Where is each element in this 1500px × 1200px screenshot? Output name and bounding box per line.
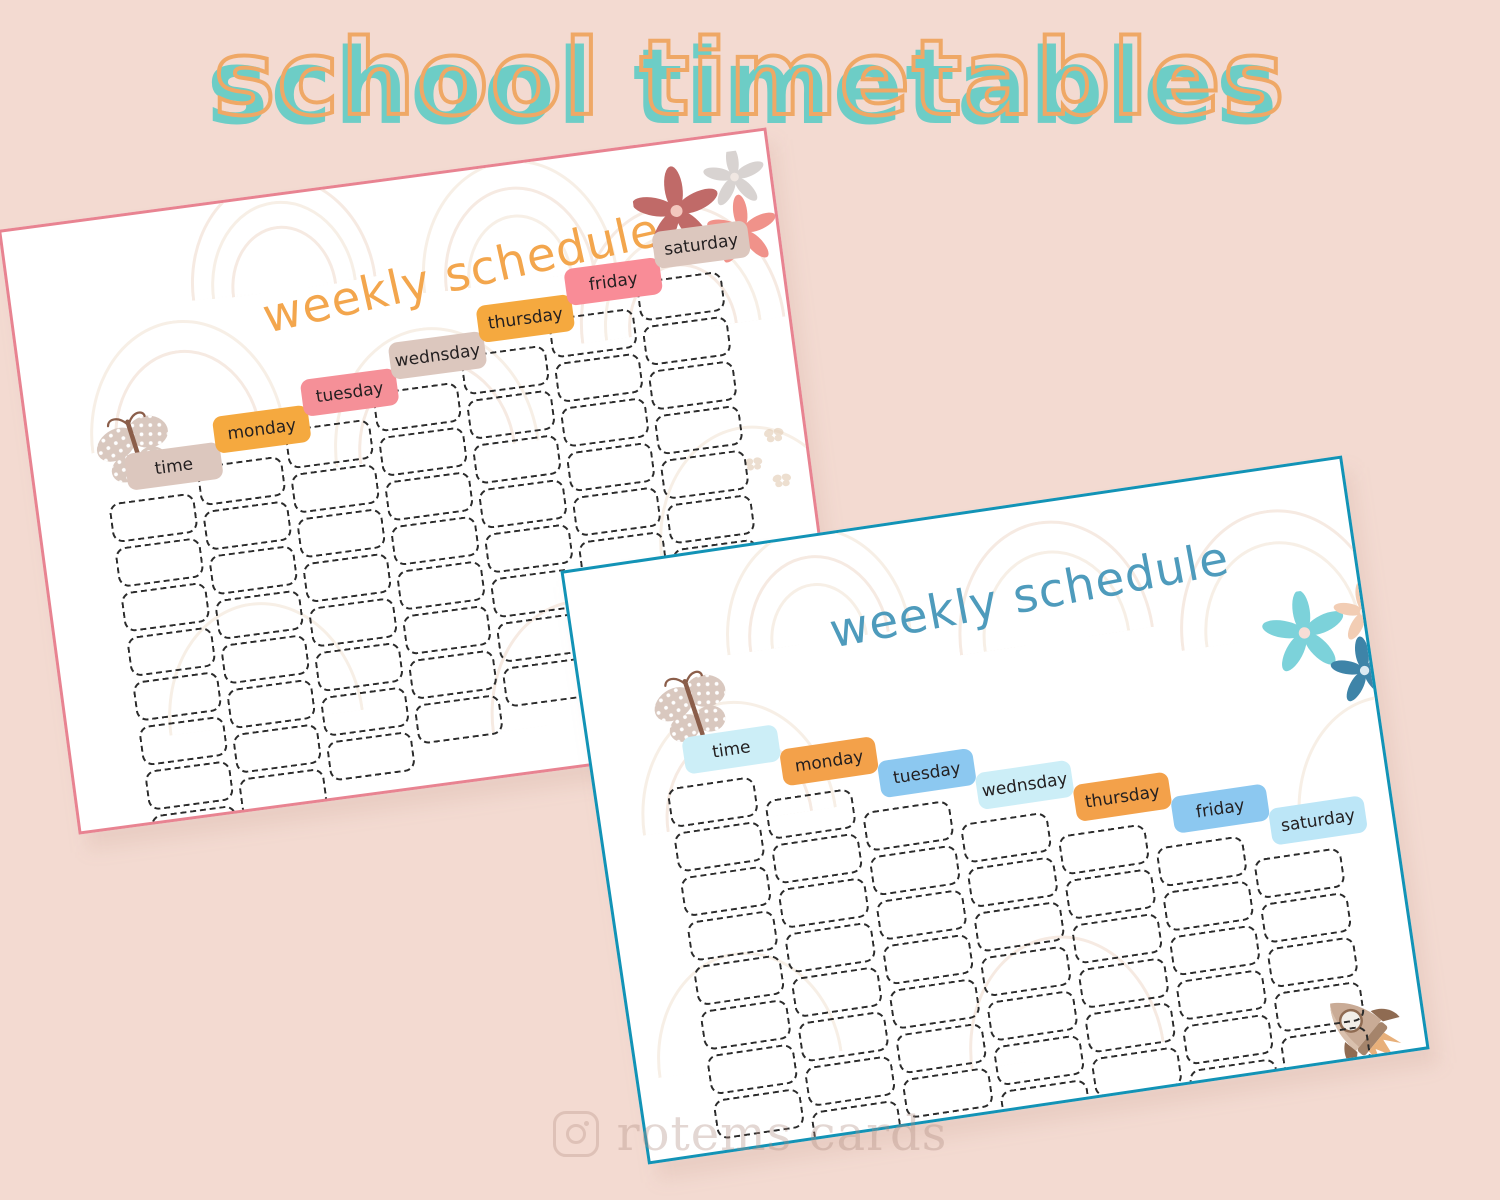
- timetable-cell[interactable]: [647, 360, 738, 411]
- timetable-cell[interactable]: [699, 999, 792, 1051]
- timetable-cell[interactable]: [138, 715, 229, 766]
- timetable-cell[interactable]: [208, 545, 299, 596]
- timetable-cell[interactable]: [571, 486, 662, 537]
- timetable-cell[interactable]: [1273, 981, 1366, 1033]
- timetable-cell[interactable]: [1071, 912, 1164, 964]
- timetable-cell[interactable]: [478, 478, 569, 529]
- timetable-cell[interactable]: [693, 954, 786, 1006]
- timetable-cell[interactable]: [1175, 969, 1268, 1021]
- timetable-cell[interactable]: [986, 990, 1079, 1042]
- timetable-cell[interactable]: [560, 397, 651, 448]
- timetable-cell[interactable]: [466, 389, 557, 440]
- timetable-cell[interactable]: [232, 723, 323, 774]
- timetable-cell[interactable]: [1155, 835, 1248, 887]
- timetable-cell[interactable]: [114, 537, 205, 588]
- timetable-cell[interactable]: [706, 1043, 799, 1095]
- timetable-cell[interactable]: [882, 933, 975, 985]
- timetable-cell[interactable]: [673, 820, 766, 872]
- watermark-text: rotems cards: [617, 1106, 948, 1162]
- timetable-cell[interactable]: [790, 966, 883, 1018]
- timetable-cell[interactable]: [396, 560, 487, 611]
- timetable-cell[interactable]: [378, 426, 469, 477]
- timetable-cell[interactable]: [966, 856, 1059, 908]
- timetable-cell[interactable]: [1168, 924, 1261, 976]
- timetable-cell[interactable]: [993, 1034, 1086, 1086]
- timetable-cell[interactable]: [797, 1010, 890, 1062]
- timetable-cell[interactable]: [308, 597, 399, 648]
- timetable-cell[interactable]: [202, 500, 293, 551]
- timetable-cell[interactable]: [804, 1055, 897, 1107]
- timetable-cell[interactable]: [1182, 1013, 1275, 1065]
- timetable-cell[interactable]: [214, 589, 305, 640]
- timetable-cell[interactable]: [1266, 936, 1359, 988]
- timetable-cell[interactable]: [862, 800, 955, 852]
- timetable-cell[interactable]: [1253, 847, 1346, 899]
- timetable-cell[interactable]: [302, 552, 393, 603]
- timetable-cell[interactable]: [1057, 823, 1150, 875]
- timetable-cell[interactable]: [960, 811, 1053, 863]
- timetable-cell[interactable]: [653, 405, 744, 456]
- timetable-cell[interactable]: [1260, 892, 1353, 944]
- timetable-cell[interactable]: [120, 582, 211, 633]
- timetable-cell[interactable]: [384, 471, 475, 522]
- timetable-cell[interactable]: [108, 492, 199, 543]
- timetable-cell[interactable]: [764, 788, 857, 840]
- timetable-cell[interactable]: [665, 494, 756, 545]
- timetable-cell[interactable]: [869, 844, 962, 896]
- timetable-cell[interactable]: [484, 523, 575, 574]
- timetable-cell[interactable]: [895, 1022, 988, 1074]
- timetable-cell[interactable]: [132, 671, 223, 722]
- instagram-icon: [553, 1111, 599, 1157]
- watermark: rotems cards: [0, 1106, 1500, 1162]
- timetable-cell[interactable]: [1077, 957, 1170, 1009]
- timetable-cell[interactable]: [326, 731, 417, 782]
- timetable-cell[interactable]: [680, 865, 773, 917]
- timetable-cell[interactable]: [296, 508, 387, 559]
- timetable-card-blue[interactable]: weekly schedule: [560, 456, 1429, 1165]
- timetable-cell[interactable]: [771, 832, 864, 884]
- timetable-cell[interactable]: [1162, 880, 1255, 932]
- timetable-cell[interactable]: [554, 352, 645, 403]
- timetable-cell[interactable]: [126, 626, 217, 677]
- timetable-cell[interactable]: [414, 694, 505, 745]
- timetable-cell[interactable]: [777, 877, 870, 929]
- timetable-cell[interactable]: [1064, 868, 1157, 920]
- timetable-cell[interactable]: [784, 921, 877, 973]
- timetable-cell[interactable]: [314, 642, 405, 693]
- timetable-cell[interactable]: [144, 760, 235, 811]
- page-title: school timetables: [0, 26, 1500, 130]
- timetable-cell[interactable]: [875, 889, 968, 941]
- timetable-cell[interactable]: [642, 315, 733, 366]
- timetable-cell[interactable]: [220, 634, 311, 685]
- timetable-cell[interactable]: [290, 463, 381, 514]
- timetable-cell[interactable]: [390, 515, 481, 566]
- timetable-cell[interactable]: [472, 434, 563, 485]
- timetable-cell[interactable]: [666, 776, 759, 828]
- timetable-cell[interactable]: [320, 686, 411, 737]
- timetable-cell[interactable]: [659, 449, 750, 500]
- timetable-cell[interactable]: [888, 978, 981, 1030]
- timetable-cell[interactable]: [408, 649, 499, 700]
- timetable-cell[interactable]: [979, 945, 1072, 997]
- timetable-cell[interactable]: [566, 441, 657, 492]
- timetable-cell[interactable]: [1084, 1001, 1177, 1053]
- timetable-cell[interactable]: [973, 900, 1066, 952]
- timetable-cell[interactable]: [686, 909, 779, 961]
- timetable-cell[interactable]: [402, 605, 493, 656]
- timetable-cell[interactable]: [226, 678, 317, 729]
